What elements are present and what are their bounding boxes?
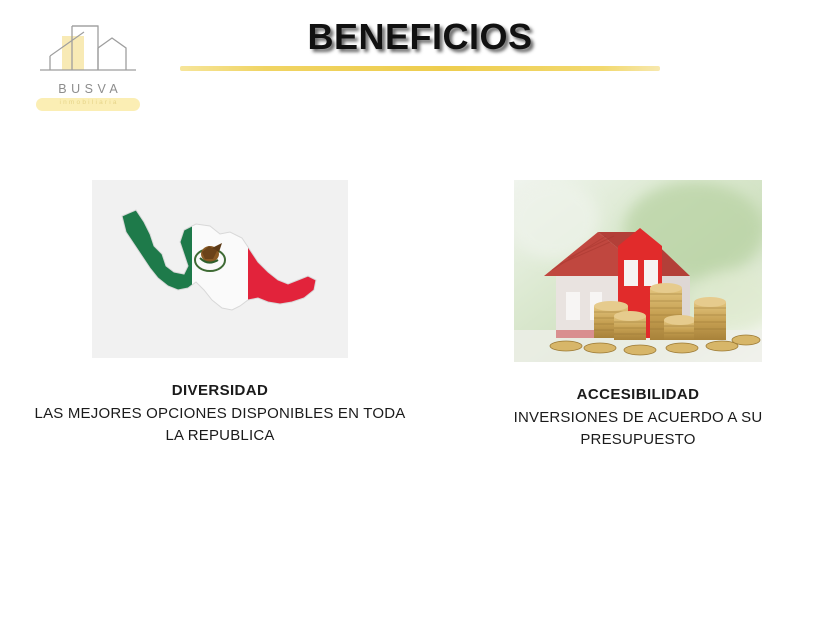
brand-tagline-pill: inmobiliaria — [36, 98, 140, 111]
page-title: BENEFICIOS — [0, 16, 840, 58]
benefit-caption-diversidad: DIVERSIDAD LAS MEJORES OPCIONES DISPONIB… — [24, 382, 416, 447]
brand-tagline: inmobiliaria — [36, 99, 140, 106]
benefit-heading: ACCESIBILIDAD — [462, 386, 814, 403]
title-underline-rule — [180, 66, 660, 71]
benefit-card-accesibilidad: ACCESIBILIDAD INVERSIONES DE ACUERDO A S… — [462, 180, 814, 451]
benefit-caption-accesibilidad: ACCESIBILIDAD INVERSIONES DE ACUERDO A S… — [462, 386, 814, 451]
house-with-coin-stacks-image — [514, 180, 762, 362]
mexico-map-flag-image — [92, 180, 348, 358]
benefit-heading: DIVERSIDAD — [24, 382, 416, 399]
benefit-card-diversidad: DIVERSIDAD LAS MEJORES OPCIONES DISPONIB… — [24, 180, 416, 447]
benefit-description: INVERSIONES DE ACUERDO A SU PRESUPUESTO — [462, 407, 814, 451]
brand-name: BUSVA — [28, 82, 148, 96]
benefit-description: LAS MEJORES OPCIONES DISPONIBLES EN TODA… — [24, 403, 416, 447]
